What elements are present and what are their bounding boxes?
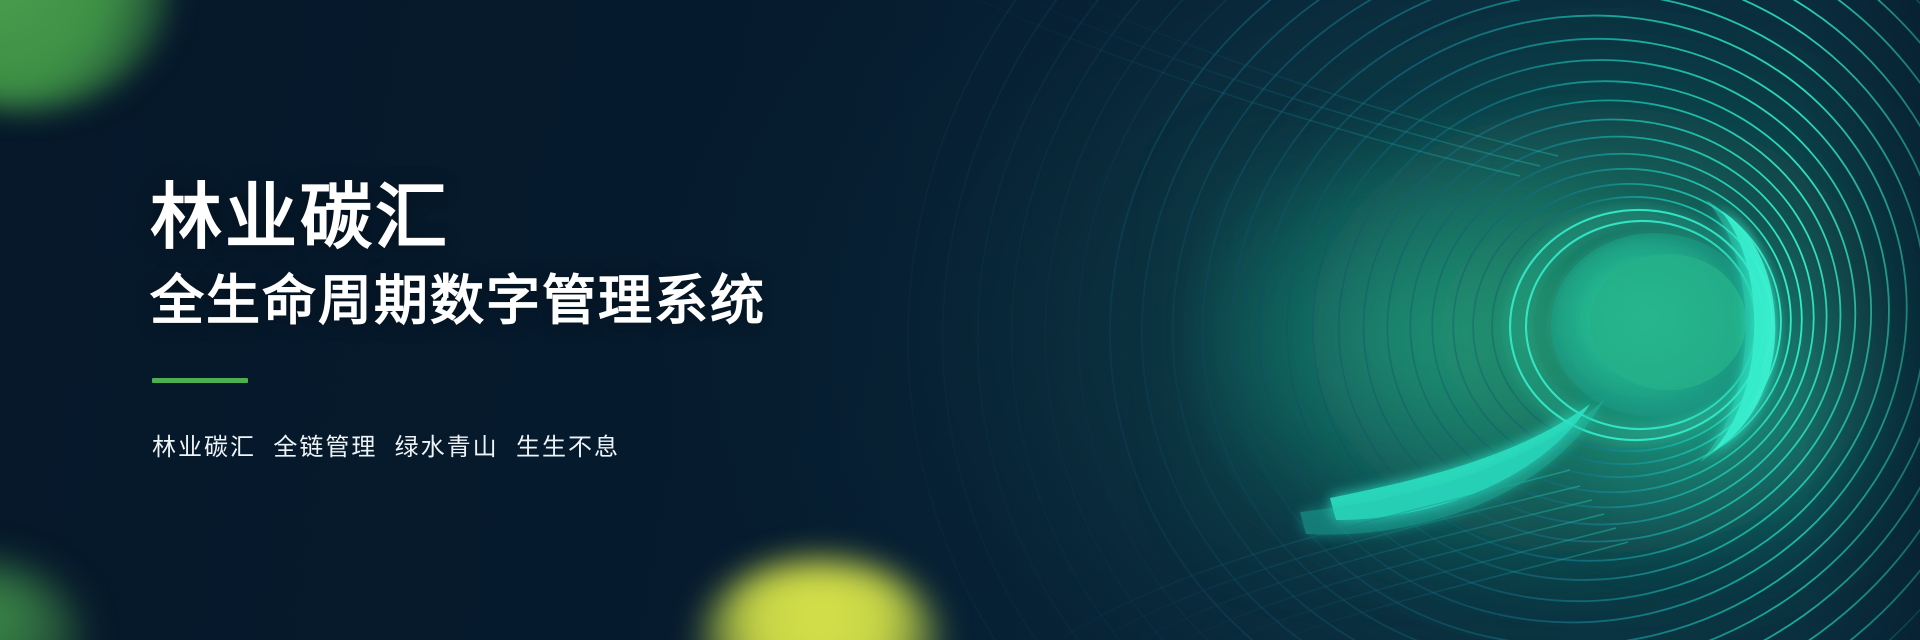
page-subtitle: 全生命周期数字管理系统 bbox=[150, 269, 766, 334]
banner-tagline: 林业碳汇 全链管理 绿水青山 生生不息 bbox=[152, 427, 766, 462]
banner-content: 林业碳汇 全生命周期数字管理系统 林业碳汇 全链管理 绿水青山 生生不息 bbox=[150, 0, 766, 640]
page-title: 林业碳汇 bbox=[150, 178, 766, 259]
accent-divider bbox=[152, 378, 248, 383]
hero-banner: 林业碳汇 全生命周期数字管理系统 林业碳汇 全链管理 绿水青山 生生不息 bbox=[0, 0, 1920, 640]
